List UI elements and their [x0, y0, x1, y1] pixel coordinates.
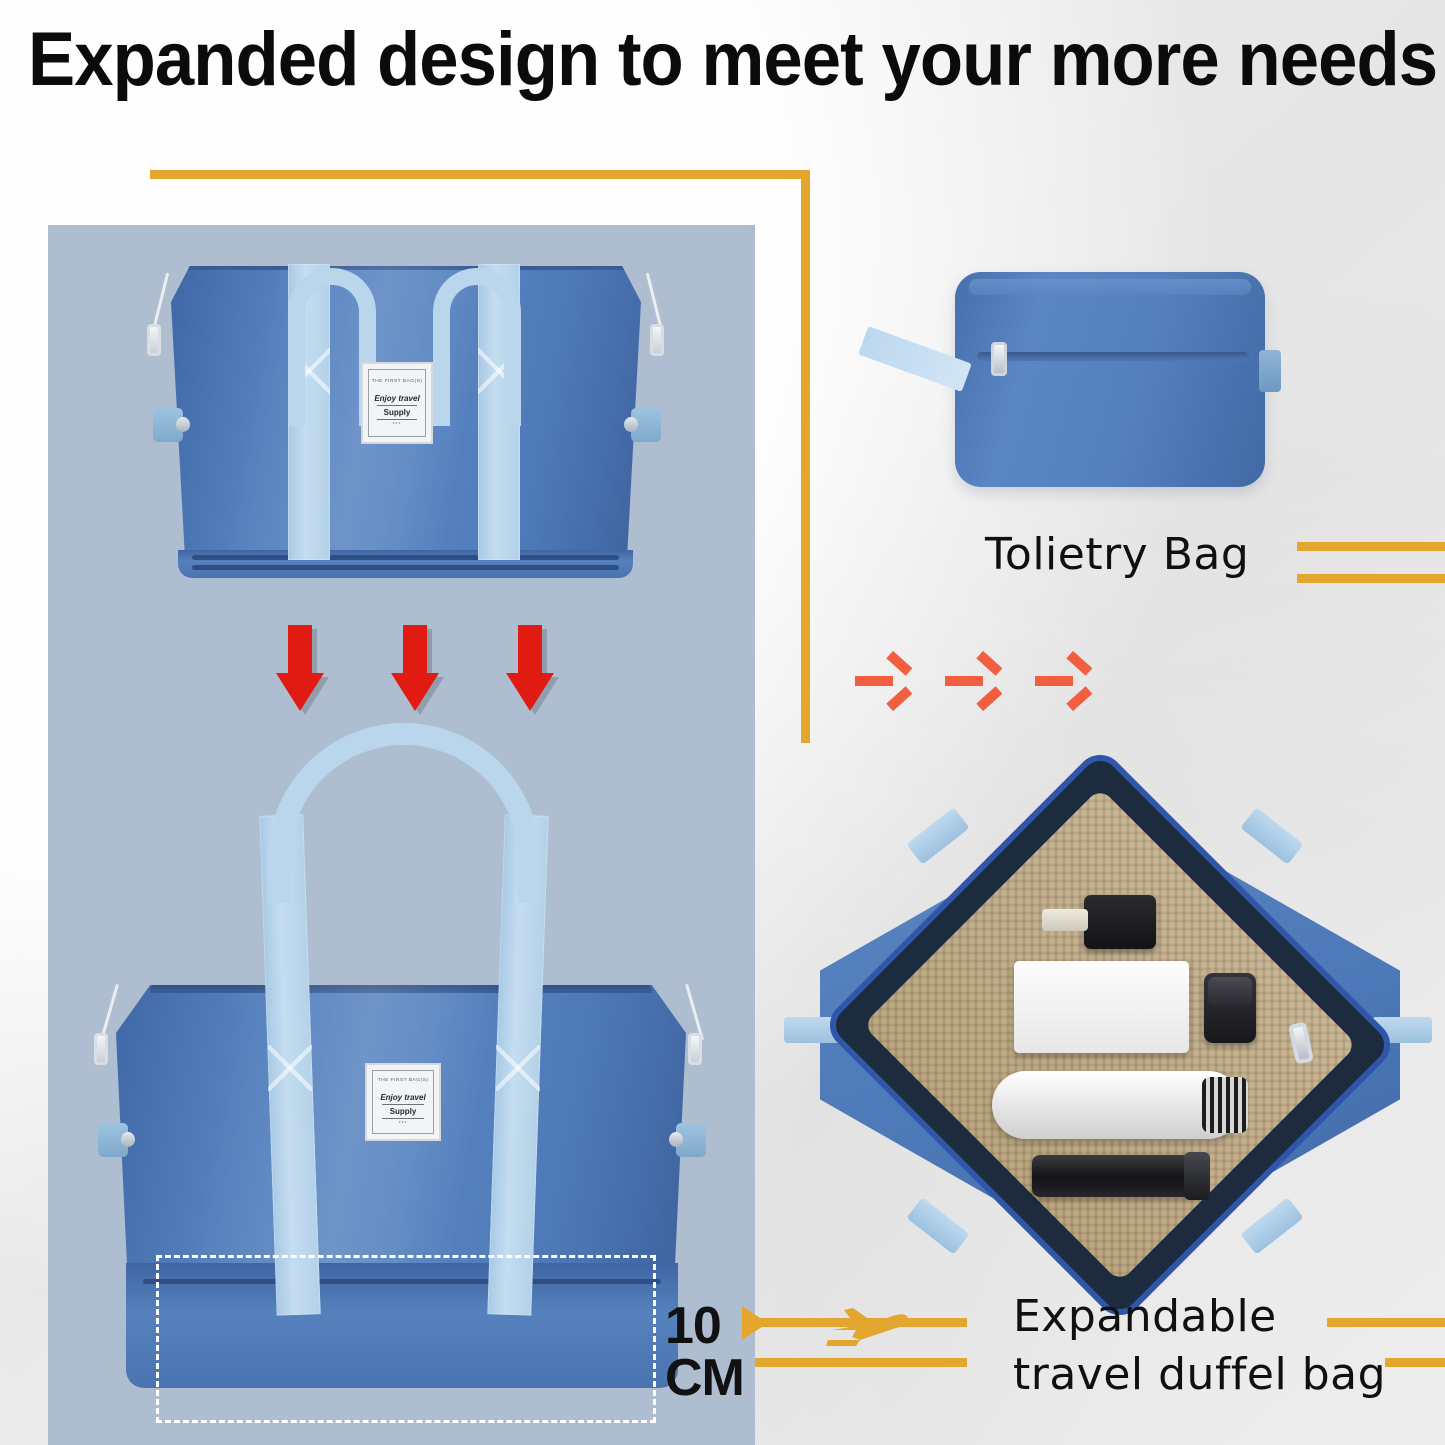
down-arrow-2: [391, 625, 439, 711]
transition-arrow-2: [945, 663, 999, 699]
zipper-pull-left: [147, 324, 161, 356]
down-arrow-shaft: [288, 625, 312, 677]
collapsed-duffel-bag: THE FIRST BAG(S) Enjoy travel Supply ***: [133, 250, 678, 615]
down-arrow-head: [506, 673, 554, 711]
expansion-value-label: 10: [665, 1300, 721, 1352]
open-duffel-bag: [790, 795, 1430, 1275]
transition-arrow-bar: [945, 676, 983, 686]
expanded-handle-loop: [268, 723, 540, 903]
bag-base-seam: [192, 555, 620, 560]
gold-rule-toiletry-bottom: [1297, 574, 1445, 583]
toiletry-caption: Tolietry Bag: [985, 528, 1249, 582]
expanded-strap-stitch-right: [496, 1045, 540, 1091]
zipper-string-left: [152, 273, 169, 332]
gold-rule-bottom-left-bottom: [755, 1358, 967, 1367]
folded-umbrella-item: [992, 1071, 1242, 1139]
expansion-number: 10: [665, 1297, 721, 1355]
gold-rule-toiletry-top: [1297, 542, 1445, 551]
brand-tag: THE FIRST BAG(S) Enjoy travel Supply ***: [361, 362, 433, 444]
open-bag-tab-top-right: [1240, 807, 1303, 864]
packed-items-group: [904, 843, 1316, 1227]
open-bag-tab-top-left: [906, 807, 969, 864]
transition-arrow-1: [855, 663, 909, 699]
gold-bracket-vertical: [801, 170, 810, 743]
perfume-bottle-neck: [1042, 909, 1088, 931]
expanded-bag-top-seam: [150, 983, 652, 993]
open-bag-tab-bottom-left: [906, 1197, 969, 1254]
bag-base-band: [178, 550, 633, 578]
pouch-side-tab: [1259, 350, 1281, 392]
black-flashlight-item: [1032, 1155, 1202, 1197]
pouch-zipper-slider: [991, 342, 1007, 376]
transition-arrow-3: [1035, 663, 1089, 699]
down-arrow-shaft: [403, 625, 427, 677]
gold-rule-bottom-right-top: [1327, 1318, 1445, 1327]
gold-bracket-horizontal: [150, 170, 810, 179]
down-arrow-3: [506, 625, 554, 711]
expanded-brand-tag-line1: THE FIRST BAG(S): [378, 1077, 429, 1082]
pouch-top-seam: [969, 279, 1251, 295]
black-cosmetic-jar-item: [1204, 973, 1256, 1043]
left-product-panel: THE FIRST BAG(S) Enjoy travel Supply ***: [48, 225, 755, 1445]
expanded-zipper-pull-right: [688, 1033, 702, 1065]
bottom-caption-line1: Expandable: [1013, 1290, 1277, 1344]
expanded-strap-stitch-left: [268, 1045, 312, 1091]
airplane-icon: [826, 1296, 912, 1348]
bottom-caption-line2: travel duffel bag: [1013, 1348, 1386, 1402]
perfume-bottle-item: [1084, 895, 1156, 949]
expanded-brand-tag: THE FIRST BAG(S) Enjoy travel Supply ***: [365, 1063, 441, 1141]
transition-arrow-bar: [855, 676, 893, 686]
zipper-string-right: [646, 273, 663, 332]
expansion-measurement-box: [156, 1255, 656, 1423]
down-arrow-head: [276, 673, 324, 711]
page-title: Expanded design to meet your more needs: [28, 18, 1330, 102]
toiletry-pouch: [955, 272, 1265, 487]
zipper-pull-right: [650, 324, 664, 356]
down-arrow-shaft: [518, 625, 542, 677]
handle-loop-right: [433, 268, 521, 426]
brand-tag-line1: THE FIRST BAG(S): [372, 378, 423, 383]
open-bag-tab-bottom-right: [1240, 1197, 1303, 1254]
bag-top-seam: [171, 260, 641, 270]
expanded-side-buckle-left: [98, 1123, 128, 1157]
expansion-unit-label: CM: [665, 1352, 744, 1404]
down-arrow-1: [276, 625, 324, 711]
gold-rule-bottom-right-bottom: [1385, 1358, 1445, 1367]
expanded-zipper-pull-left: [94, 1033, 108, 1065]
expansion-unit: CM: [665, 1349, 744, 1407]
transition-arrow-bar: [1035, 676, 1073, 686]
down-arrow-head: [391, 673, 439, 711]
expanded-zipper-string-right: [685, 984, 704, 1041]
gold-arrowhead-left: [742, 1306, 768, 1340]
expanded-zipper-string-left: [100, 984, 119, 1041]
side-buckle-right: [631, 408, 661, 442]
side-buckle-left: [153, 408, 183, 442]
pouch-zipper: [977, 352, 1249, 361]
bag-base-seam-2: [192, 565, 620, 570]
open-bag-interior: [820, 745, 1400, 1325]
expanded-side-buckle-right: [676, 1123, 706, 1157]
white-notebook-item: [1014, 961, 1189, 1053]
